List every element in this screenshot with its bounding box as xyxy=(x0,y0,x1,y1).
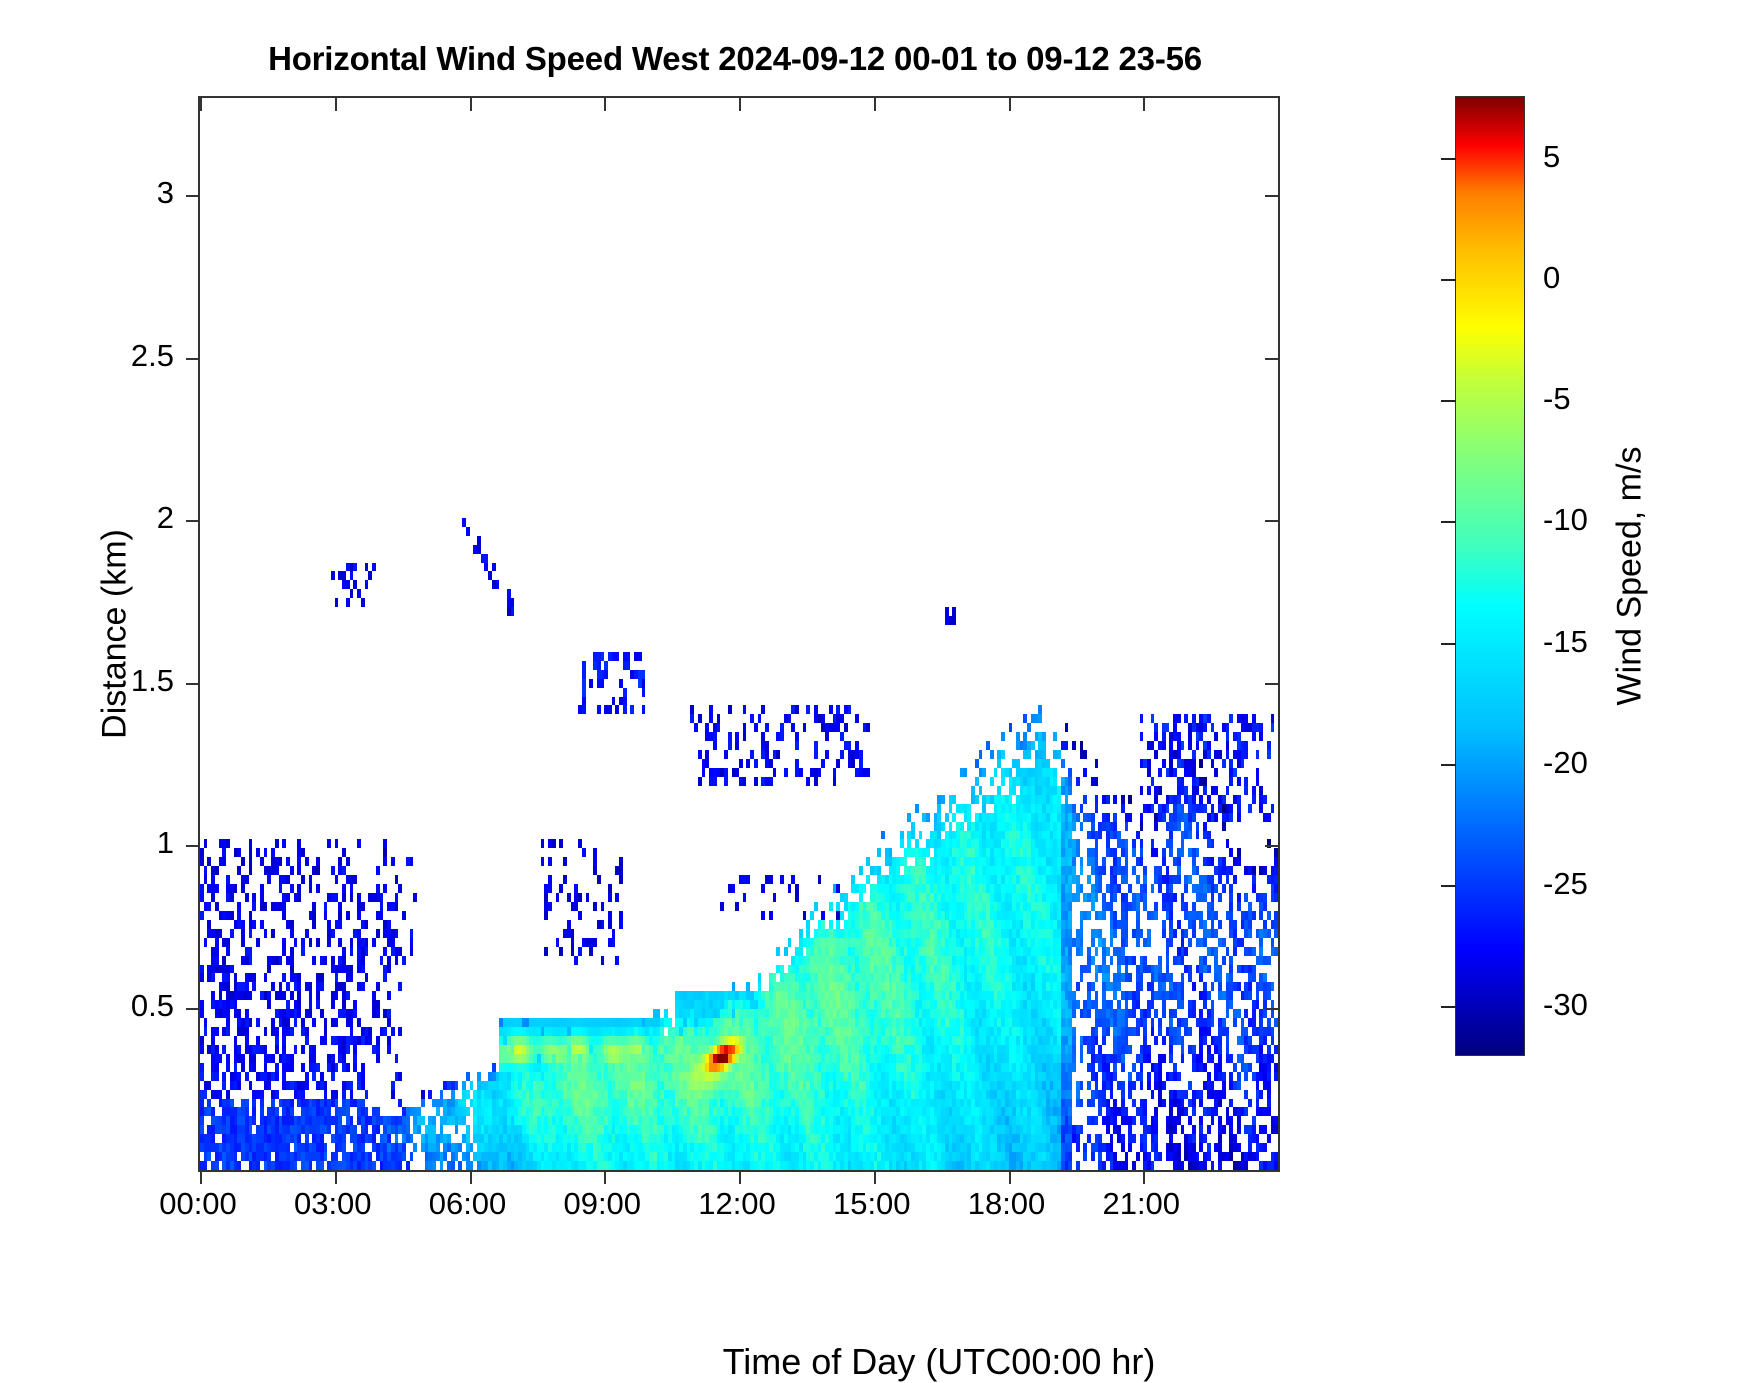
x-tick-mark-top xyxy=(1009,98,1011,111)
x-tick-mark-top xyxy=(470,98,472,111)
y-tick-mark-right xyxy=(1265,358,1278,360)
x-axis-title: Time of Day (UTC00:00 hr) xyxy=(723,1341,1156,1383)
y-tick-label: 1.5 xyxy=(131,663,174,699)
y-tick-mark-right xyxy=(1265,1008,1278,1010)
colorbar-tick-mark xyxy=(1441,885,1456,887)
colorbar-tick-label: -15 xyxy=(1543,624,1588,660)
colorbar-tick-mark xyxy=(1441,521,1456,523)
colorbar-tick-label: -20 xyxy=(1543,745,1588,781)
colorbar-tick-mark xyxy=(1441,1006,1456,1008)
x-tick-mark xyxy=(200,1170,202,1184)
x-tick-mark xyxy=(335,1170,337,1184)
y-tick-mark xyxy=(186,1008,200,1010)
x-tick-mark-top xyxy=(1143,98,1145,111)
x-tick-mark-top xyxy=(200,98,202,111)
x-tick-mark-top xyxy=(604,98,606,111)
x-tick-mark xyxy=(604,1170,606,1184)
x-tick-label: 12:00 xyxy=(698,1186,776,1222)
y-tick-label: 2.5 xyxy=(131,338,174,374)
colorbar-tick-label: -5 xyxy=(1543,381,1571,417)
y-tick-label: 1 xyxy=(157,825,174,861)
y-tick-mark-right xyxy=(1265,195,1278,197)
x-tick-label: 00:00 xyxy=(159,1186,237,1222)
colorbar xyxy=(1455,96,1525,1056)
y-tick-mark xyxy=(186,683,200,685)
colorbar-title: Wind Speed, m/s xyxy=(1611,447,1650,706)
y-axis-title: Distance (km) xyxy=(96,529,135,739)
x-tick-label: 15:00 xyxy=(833,1186,911,1222)
y-tick-mark xyxy=(186,358,200,360)
x-tick-label: 18:00 xyxy=(968,1186,1046,1222)
colorbar-tick-mark xyxy=(1441,764,1456,766)
x-tick-mark-top xyxy=(739,98,741,111)
x-tick-mark-top xyxy=(335,98,337,111)
y-tick-mark-right xyxy=(1265,683,1278,685)
x-tick-mark xyxy=(739,1170,741,1184)
x-tick-label: 21:00 xyxy=(1102,1186,1180,1222)
colorbar-tick-label: 0 xyxy=(1543,260,1560,296)
y-tick-label: 3 xyxy=(157,175,174,211)
colorbar-tick-mark xyxy=(1441,279,1456,281)
colorbar-tick-label: -25 xyxy=(1543,866,1588,902)
colorbar-tick-label: 5 xyxy=(1543,139,1560,175)
x-tick-mark xyxy=(874,1170,876,1184)
heatmap-canvas xyxy=(200,98,1278,1170)
y-tick-mark-right xyxy=(1265,845,1278,847)
colorbar-gradient xyxy=(1456,97,1524,1055)
x-tick-label: 06:00 xyxy=(429,1186,507,1222)
y-tick-mark xyxy=(186,195,200,197)
plot-axes: Distance (km) Time of Day (UTC00:00 hr) xyxy=(198,96,1280,1172)
colorbar-tick-mark xyxy=(1441,400,1456,402)
x-tick-mark xyxy=(470,1170,472,1184)
x-tick-label: 03:00 xyxy=(294,1186,372,1222)
y-tick-mark xyxy=(186,520,200,522)
figure-title: Horizontal Wind Speed West 2024-09-12 00… xyxy=(0,40,1470,78)
y-tick-mark-right xyxy=(1265,520,1278,522)
x-tick-label: 09:00 xyxy=(563,1186,641,1222)
x-tick-mark-top xyxy=(874,98,876,111)
x-tick-mark xyxy=(1143,1170,1145,1184)
y-tick-label: 0.5 xyxy=(131,988,174,1024)
colorbar-tick-mark xyxy=(1441,643,1456,645)
figure-root: Horizontal Wind Speed West 2024-09-12 00… xyxy=(0,0,1750,1313)
colorbar-tick-mark xyxy=(1441,158,1456,160)
y-tick-mark xyxy=(186,845,200,847)
colorbar-tick-label: -30 xyxy=(1543,987,1588,1023)
y-tick-label: 2 xyxy=(157,500,174,536)
x-tick-mark xyxy=(1009,1170,1011,1184)
colorbar-tick-label: -10 xyxy=(1543,502,1588,538)
